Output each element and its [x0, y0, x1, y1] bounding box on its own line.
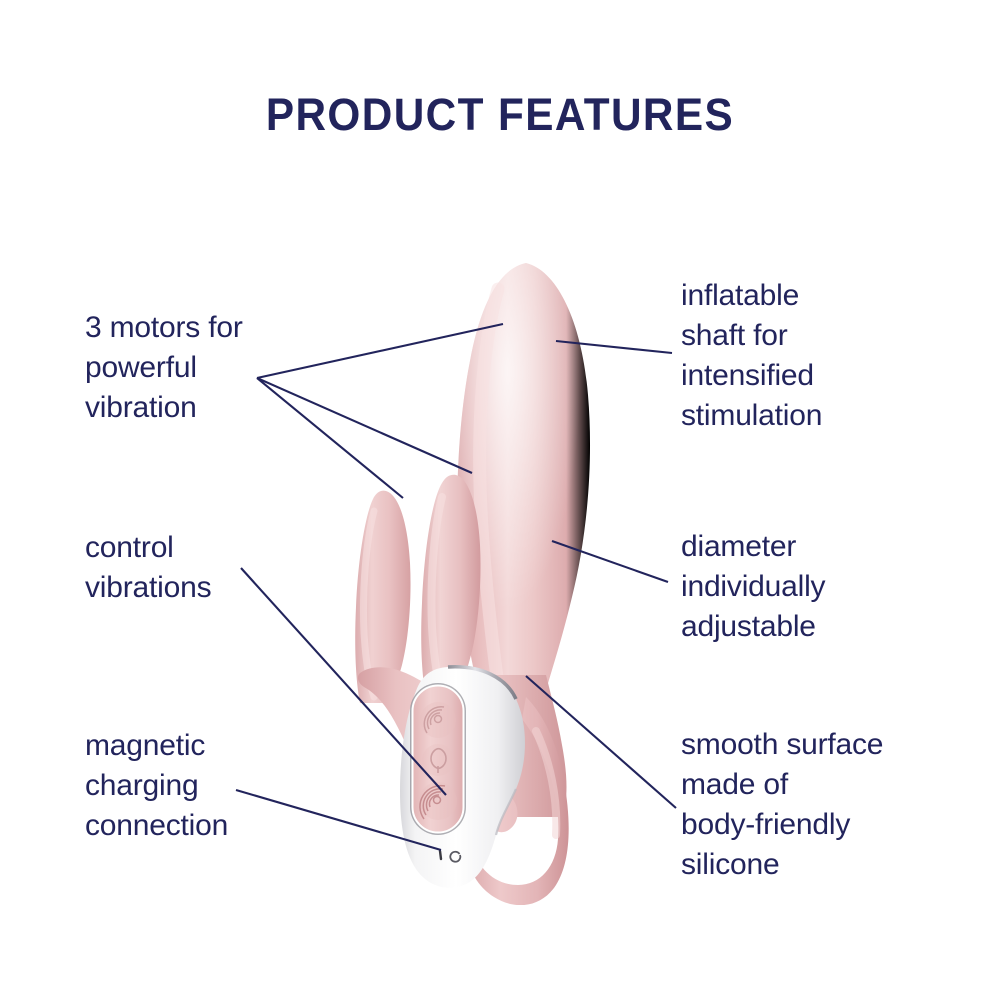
page-title: PRODUCT FEATURES [30, 92, 970, 137]
contact-pin [440, 851, 441, 859]
product-features-infographic: PRODUCT FEATURES [0, 0, 1000, 1000]
callout-smooth-surface: smooth surface made of body-friendly sil… [681, 725, 971, 885]
vibration-bottom-button[interactable] [419, 782, 457, 820]
callout-3-motors: 3 motors for powerful vibration [85, 308, 325, 428]
control-panel[interactable] [410, 683, 466, 835]
vibration-top-button[interactable] [420, 702, 456, 738]
inflate-pump-button[interactable] [422, 744, 454, 776]
main-shaft [457, 263, 590, 697]
product-illustration [330, 245, 670, 905]
callout-diameter-adjustable: diameter individually adjustable [681, 527, 961, 647]
control-handle [400, 667, 525, 888]
callout-control-vibrations: control vibrations [85, 528, 325, 608]
prong-large [421, 475, 480, 697]
callout-inflatable-shaft: inflatable shaft for intensified stimula… [681, 276, 961, 436]
callout-magnetic-charging: magnetic charging connection [85, 726, 335, 846]
